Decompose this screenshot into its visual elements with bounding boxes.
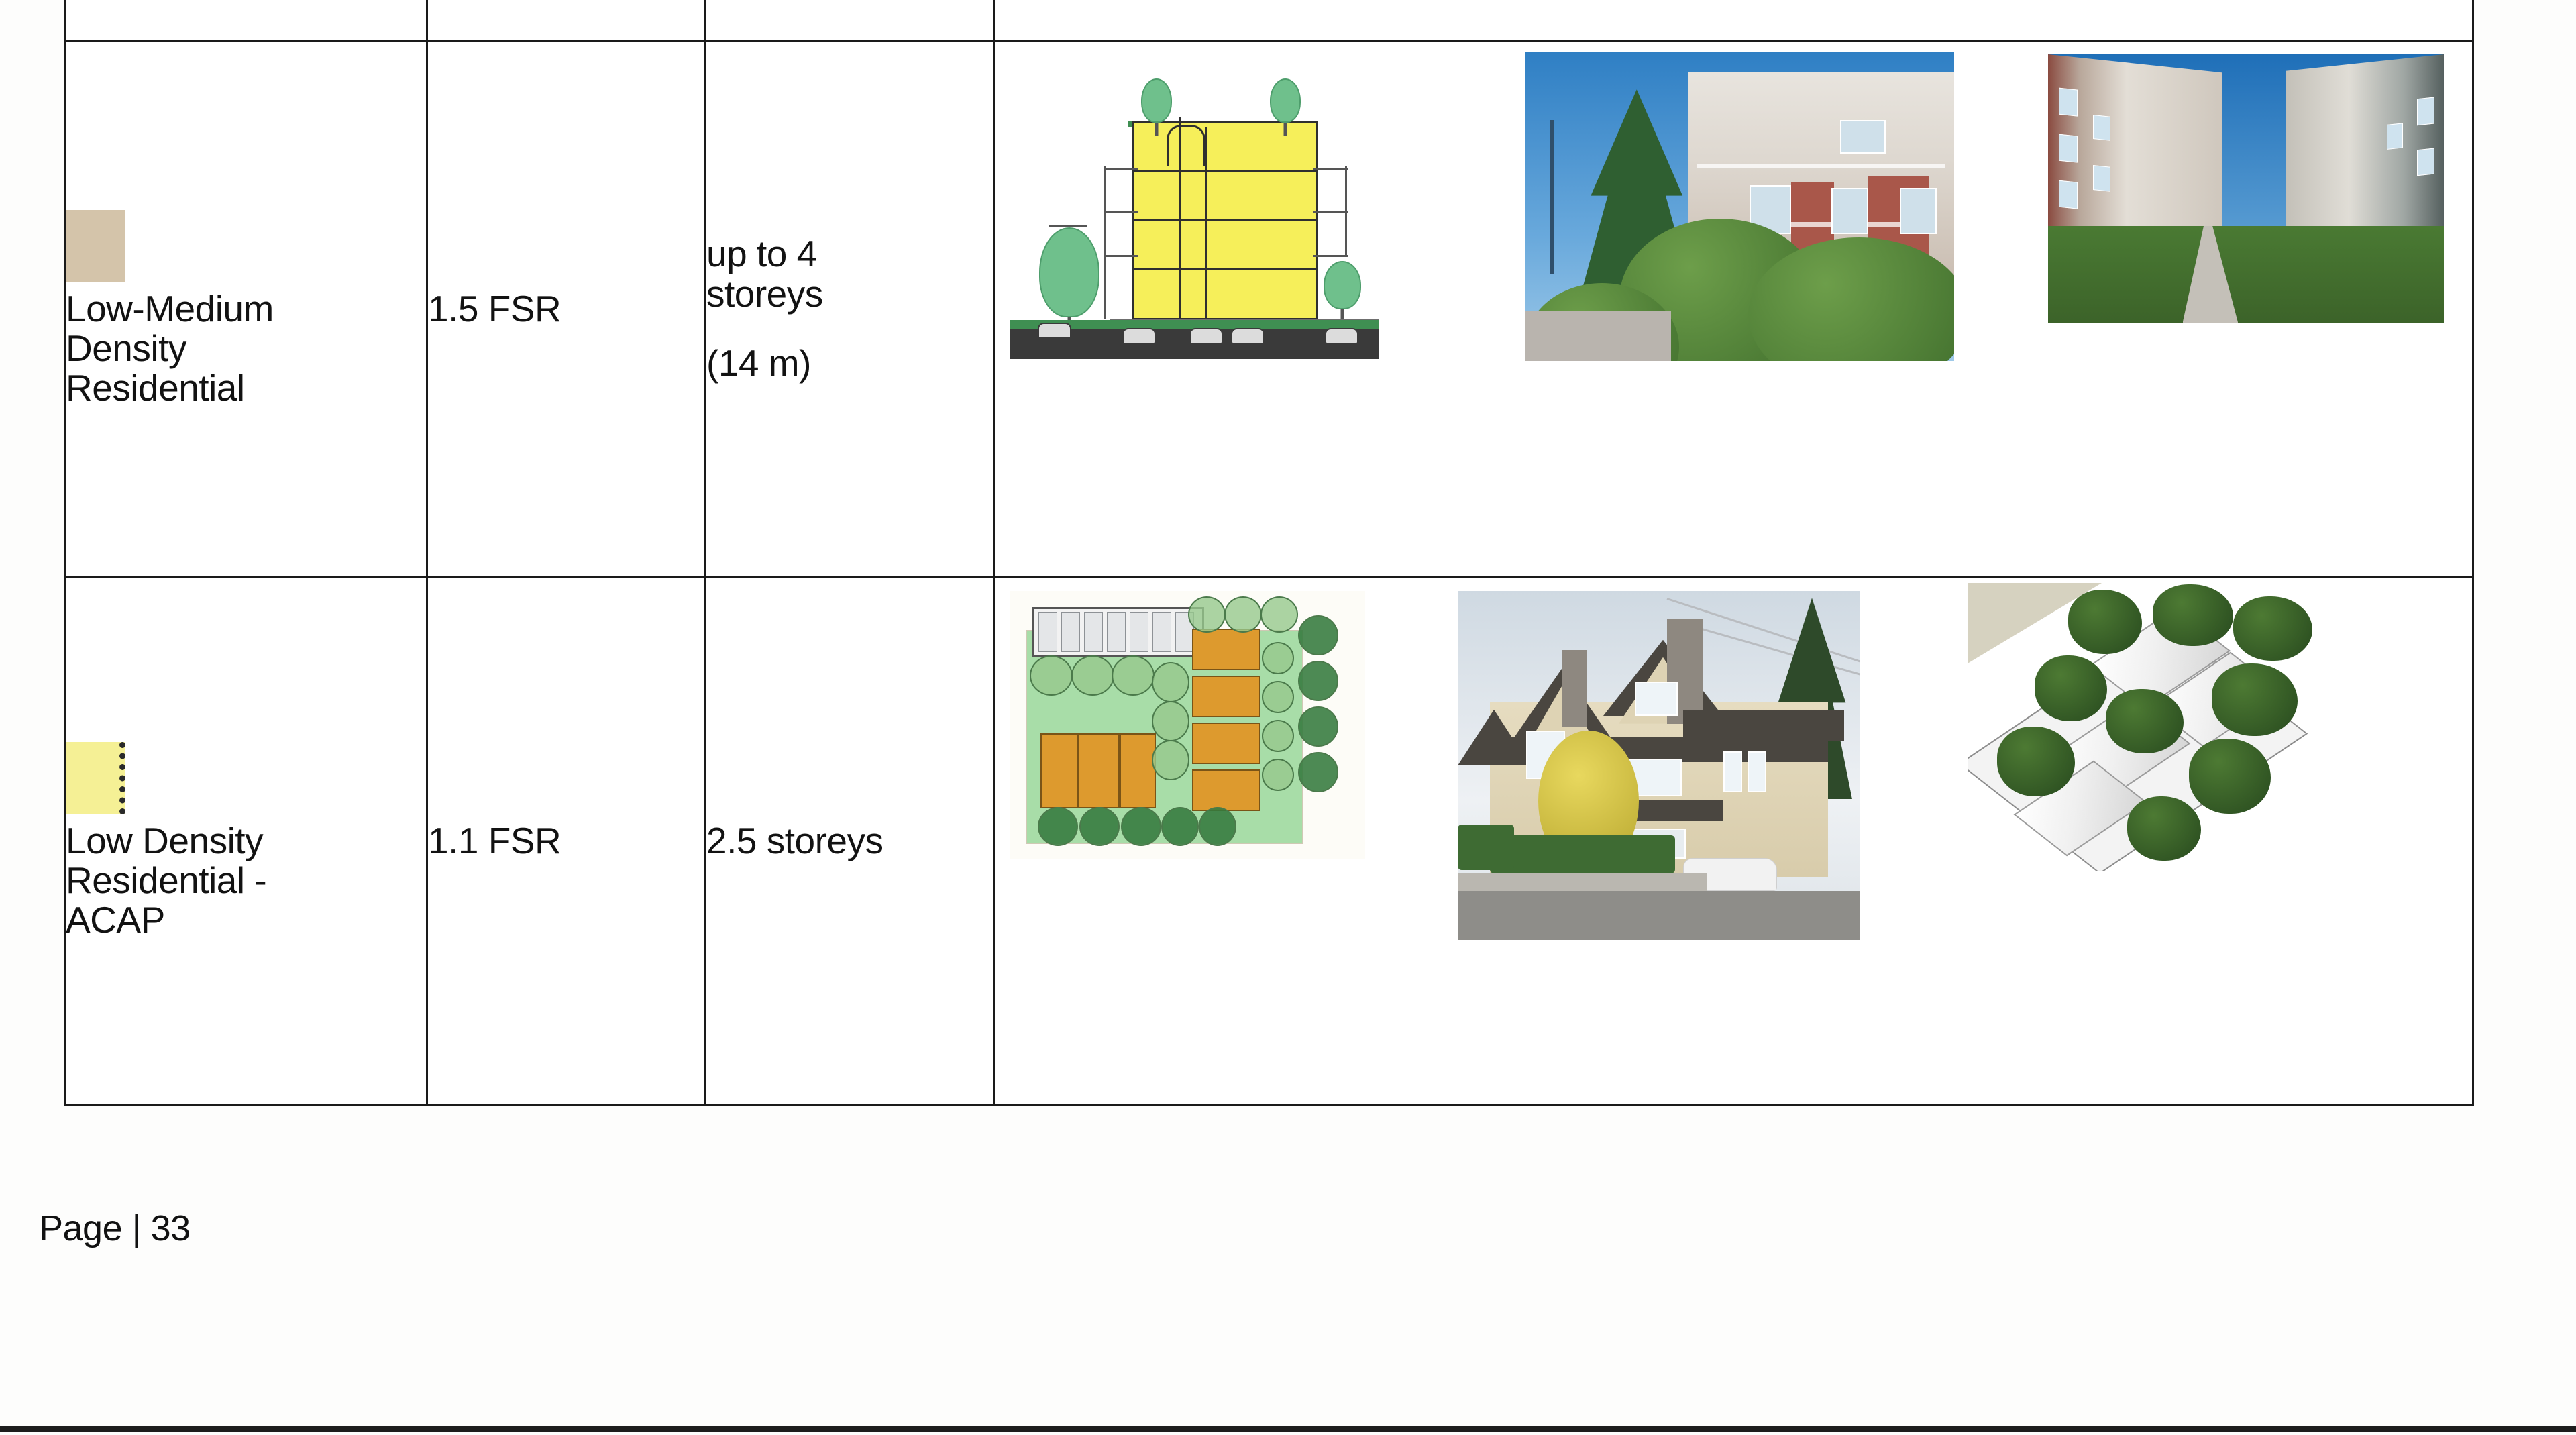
density-value-low-medium: 1.5 FSR [428, 289, 704, 329]
cell-illustrations-acap [994, 577, 2473, 1106]
render-tree [2068, 590, 2142, 654]
parked-car-4 [1231, 328, 1265, 344]
window-4 [1840, 120, 1886, 154]
render-tree [2106, 689, 2184, 753]
parking-stall [1084, 612, 1103, 652]
plan-tree [1262, 642, 1294, 674]
plan-tree [1199, 807, 1236, 846]
plan-tree [1298, 706, 1338, 747]
plan-tree [1030, 655, 1073, 696]
cell-designation-acap: Low Density Residential - ACAP [65, 577, 427, 1106]
window-l4 [2093, 115, 2110, 141]
illustration-strip-low-medium [995, 42, 2472, 576]
plan-tree [1152, 740, 1189, 780]
plan-tree [1262, 759, 1294, 791]
centre-line-left [1179, 117, 1181, 319]
cell-height-low-medium: up to 4 storeys (14 m) [706, 42, 994, 577]
document-page: Low-Medium Density Residential 1.5 FSR u… [0, 0, 2576, 1435]
floor-line-2 [1134, 219, 1316, 221]
render-tree [2189, 739, 2271, 814]
legend-swatch-low-medium-density [66, 210, 426, 282]
parked-car-2 [1122, 328, 1156, 344]
plan-tree [1121, 807, 1161, 846]
colour-swatch-yellow [66, 742, 125, 814]
parked-car-3 [1189, 328, 1223, 344]
parking-stall [1107, 612, 1126, 652]
parked-car-1 [1038, 323, 1071, 339]
dimension-spine-left [1104, 166, 1106, 319]
window-attic [1635, 682, 1678, 716]
street-tree-left [1039, 227, 1099, 317]
storey-dimension-3 [1104, 168, 1138, 170]
plan-tree [1071, 655, 1114, 696]
floor-line-3 [1134, 170, 1316, 172]
plan-tree [1262, 720, 1294, 752]
render-tree [2127, 796, 2201, 861]
window-r1 [2417, 97, 2434, 125]
two-and-half-storey-townhouse-photo [1458, 591, 1860, 940]
storey-dimension-1 [1104, 255, 1138, 257]
plan-tree [1298, 752, 1338, 792]
tree-trunk [1155, 123, 1159, 136]
window-l2 [2059, 134, 2078, 163]
street-surface [1458, 891, 1860, 940]
window-side-1 [1723, 751, 1742, 792]
townhouse-block-r4 [1192, 769, 1260, 811]
parking-row [1032, 607, 1204, 657]
window-r2 [2417, 148, 2434, 176]
plan-tree [1161, 807, 1199, 846]
window-side-2 [1748, 751, 1766, 792]
townhouse-block-r1 [1192, 629, 1260, 670]
plan-tree [1112, 655, 1155, 696]
townhouse-massing-model-render [1968, 583, 2363, 871]
parking-stall [1038, 612, 1057, 652]
plan-tree [1038, 807, 1078, 846]
cell-illustrations-low-medium [994, 42, 2473, 577]
townhouse-block-r2 [1192, 676, 1260, 717]
render-tree [2035, 655, 2107, 721]
cell-designation-partial [65, 0, 427, 42]
cell-height-partial [706, 0, 994, 42]
townhouse-block-l1 [1040, 733, 1078, 808]
street-light-pole [1550, 120, 1554, 274]
designation-label-low-medium: Low-Medium Density Residential [66, 289, 426, 408]
illustration-strip-acap [995, 578, 2472, 1104]
table-row: Low Density Residential - ACAP 1.1 FSR 2… [65, 577, 2473, 1106]
render-tree [2233, 596, 2312, 661]
cell-density-partial [427, 0, 706, 42]
courtyard-planting [2048, 226, 2444, 323]
roof-right-slope [1683, 710, 1844, 741]
tree-trunk [1284, 123, 1287, 136]
legend-swatch-low-density-acap [66, 742, 426, 814]
sidewalk [1525, 311, 1671, 361]
plan-tree [1152, 662, 1189, 702]
balcony-rail-top [1697, 164, 1945, 168]
height-value-low-medium: up to 4 storeys [706, 234, 993, 314]
cell-designation-low-medium: Low-Medium Density Residential [65, 42, 427, 577]
parking-stall [1152, 612, 1171, 652]
townhouse-block-l2 [1078, 733, 1120, 808]
cell-density-low-medium: 1.5 FSR [427, 42, 706, 577]
floor-line-1 [1134, 268, 1316, 270]
apartment-courtyard-pathway-photo [2048, 54, 2444, 323]
cell-density-acap: 1.1 FSR [427, 577, 706, 1106]
parking-stall [1061, 612, 1080, 652]
table-row [65, 0, 2473, 42]
townhouse-block-l3 [1120, 733, 1156, 808]
storey-dimension-2r [1313, 211, 1348, 213]
height-metric-note-low-medium: (14 m) [706, 343, 993, 383]
tree-crown [1039, 227, 1099, 317]
tree-crown [1324, 261, 1361, 309]
plan-tree [1224, 596, 1262, 633]
cell-height-acap: 2.5 storeys [706, 577, 994, 1106]
tree-crown [1270, 78, 1301, 123]
window-1 [1900, 188, 1937, 233]
storey-dimension-3r [1313, 168, 1348, 170]
parked-car-5 [1325, 328, 1358, 344]
roof-tree-right [1270, 78, 1301, 123]
storey-dimension-2 [1104, 211, 1138, 213]
dimension-spine-right [1345, 166, 1347, 257]
render-tree [2212, 663, 2298, 736]
street-tree-right [1324, 261, 1361, 309]
page-bottom-rule [0, 1426, 2576, 1432]
four-storey-apartment-street-photo [1525, 52, 1954, 361]
density-value-acap: 1.1 FSR [428, 821, 704, 861]
window-l1 [2059, 88, 2078, 117]
window-2 [1831, 188, 1868, 233]
designation-label-acap: Low Density Residential - ACAP [66, 821, 426, 940]
plan-tree [1298, 661, 1338, 701]
window-l5 [2093, 165, 2110, 191]
plan-tree [1188, 596, 1226, 633]
table-row: Low-Medium Density Residential 1.5 FSR u… [65, 42, 2473, 577]
plan-tree [1298, 615, 1338, 655]
townhouse-site-plan-drawing [1010, 591, 1365, 859]
four-storey-building-section-diagram [1010, 57, 1379, 359]
colour-swatch-tan [66, 210, 125, 282]
height-spacer [706, 314, 993, 343]
render-tree [2153, 584, 2233, 646]
parking-stall [1130, 612, 1148, 652]
hedge-left [1458, 825, 1514, 870]
window-l3 [2059, 180, 2078, 209]
storey-dimension-1r [1313, 255, 1348, 257]
plan-tree [1262, 681, 1294, 713]
window-r3 [2387, 123, 2402, 150]
page-footer: Page | 33 [39, 1208, 191, 1249]
building-massing-block [1132, 121, 1318, 320]
roof-peak-element [1167, 125, 1205, 166]
land-use-designation-table: Low-Medium Density Residential 1.5 FSR u… [64, 0, 2474, 1106]
diagram-tick [1049, 225, 1087, 227]
hedge-row [1490, 835, 1675, 873]
tree-crown [1141, 78, 1172, 123]
chimney-secondary [1562, 650, 1587, 727]
plan-tree [1079, 807, 1120, 846]
render-tree [1997, 727, 2075, 796]
roof-tree-left [1141, 78, 1172, 123]
height-value-acap: 2.5 storeys [706, 821, 993, 861]
plan-tree [1260, 596, 1298, 633]
centre-line-right [1205, 127, 1207, 321]
plan-tree [1152, 701, 1189, 741]
cell-illustrations-partial [994, 0, 2473, 42]
townhouse-block-r3 [1192, 723, 1260, 764]
